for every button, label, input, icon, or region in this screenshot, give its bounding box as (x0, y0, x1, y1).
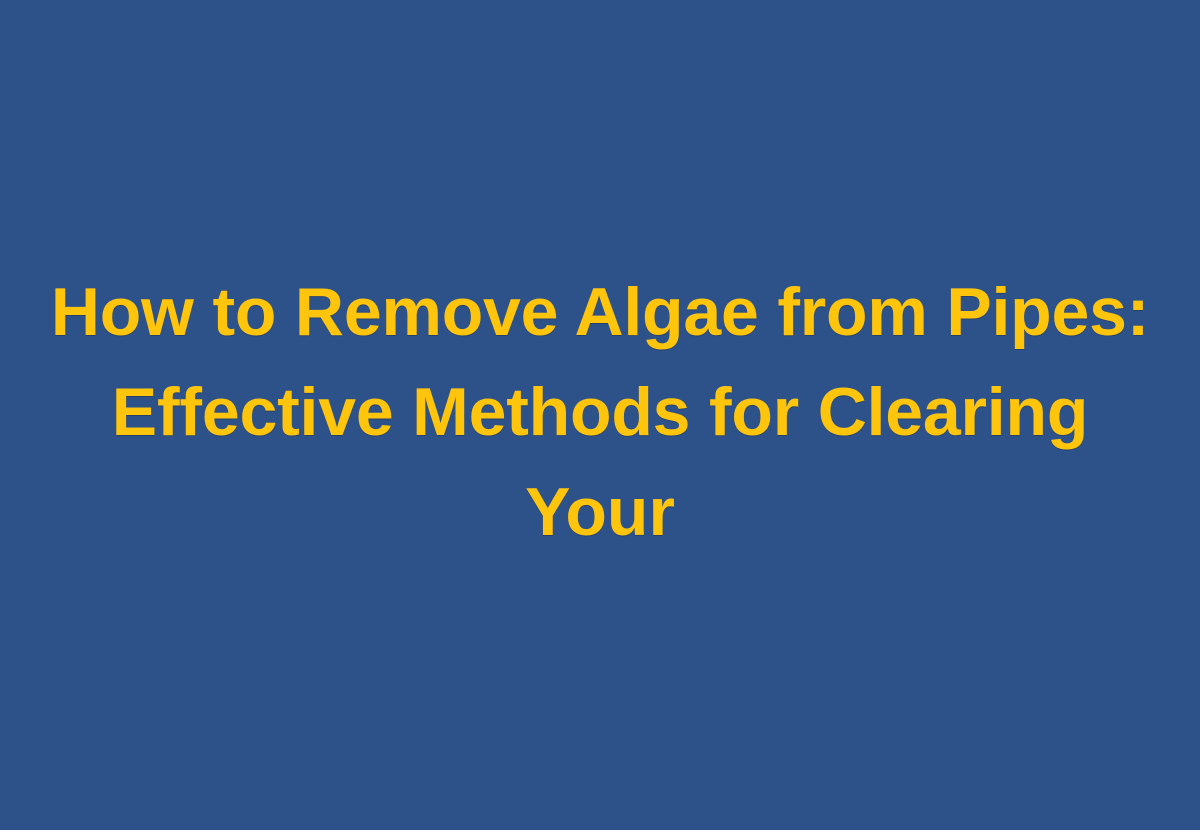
article-title-card: How to Remove Algae from Pipes: Effectiv… (0, 0, 1200, 830)
title-line-3: Your (40, 462, 1160, 562)
title-line-2: Effective Methods for Clearing (40, 362, 1160, 462)
page-title: How to Remove Algae from Pipes: Effectiv… (0, 262, 1200, 562)
title-line-1: How to Remove Algae from Pipes: (40, 262, 1160, 362)
